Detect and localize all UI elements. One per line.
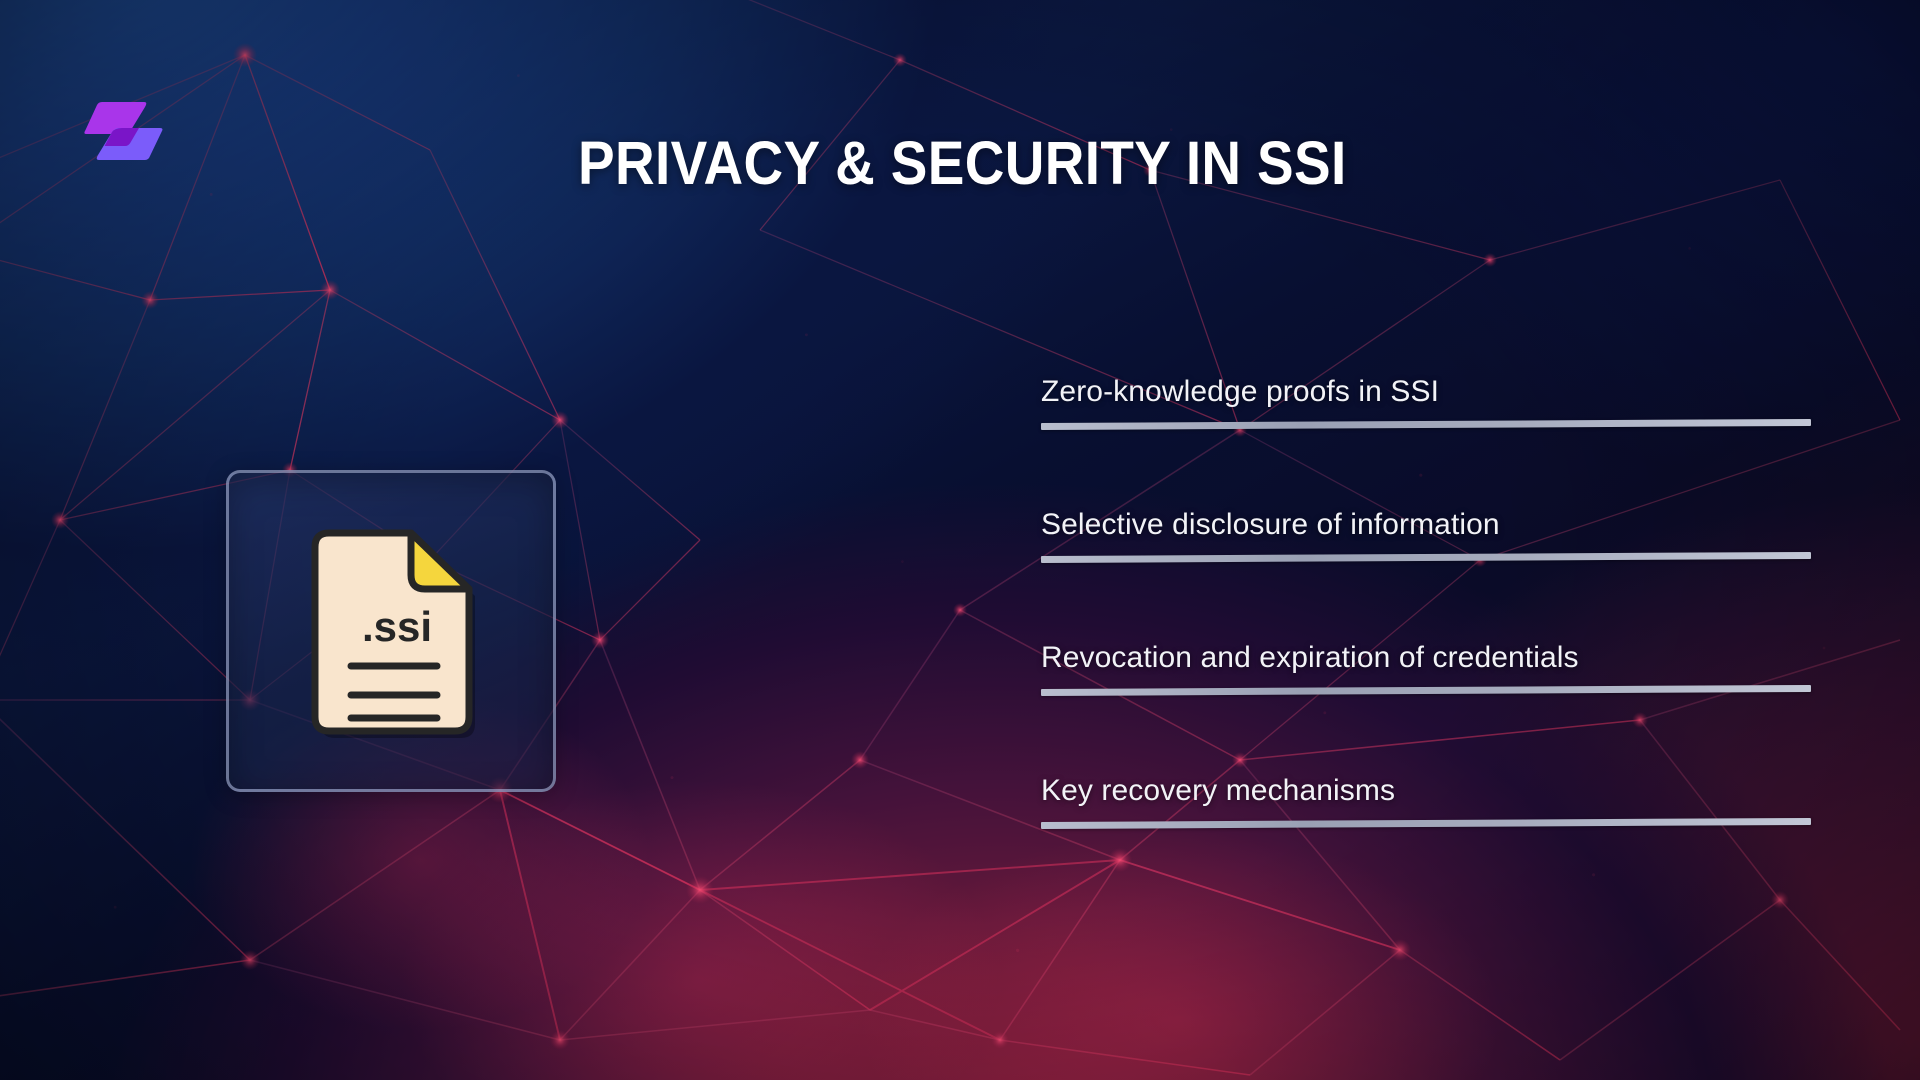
topics-list: Zero-knowledge proofs in SSI Selective d… bbox=[1041, 375, 1816, 907]
list-item-label: Selective disclosure of information bbox=[1041, 508, 1816, 541]
list-item-divider bbox=[1041, 685, 1811, 696]
brand-logo-icon[interactable] bbox=[84, 100, 166, 162]
document-fold-corner bbox=[411, 533, 469, 589]
list-item-label: Key recovery mechanisms bbox=[1041, 774, 1816, 807]
list-item[interactable]: Zero-knowledge proofs in SSI bbox=[1041, 375, 1816, 508]
list-item[interactable]: Selective disclosure of information bbox=[1041, 508, 1816, 641]
ssi-document-icon: .ssi bbox=[305, 523, 477, 739]
list-item-divider bbox=[1041, 818, 1811, 829]
page-title: PRIVACY & SECURITY IN SSI bbox=[578, 133, 1347, 194]
document-extension-label: .ssi bbox=[362, 603, 432, 650]
slide-root: PRIVACY & SECURITY IN SSI .ssi Zero-know… bbox=[0, 0, 1920, 1080]
list-item-divider bbox=[1041, 552, 1811, 563]
list-item[interactable]: Revocation and expiration of credentials bbox=[1041, 641, 1816, 774]
ssi-credential-file-panel[interactable]: .ssi bbox=[226, 470, 556, 792]
list-item[interactable]: Key recovery mechanisms bbox=[1041, 774, 1816, 907]
list-item-label: Revocation and expiration of credentials bbox=[1041, 641, 1816, 674]
list-item-label: Zero-knowledge proofs in SSI bbox=[1041, 375, 1816, 408]
list-item-divider bbox=[1041, 419, 1811, 430]
